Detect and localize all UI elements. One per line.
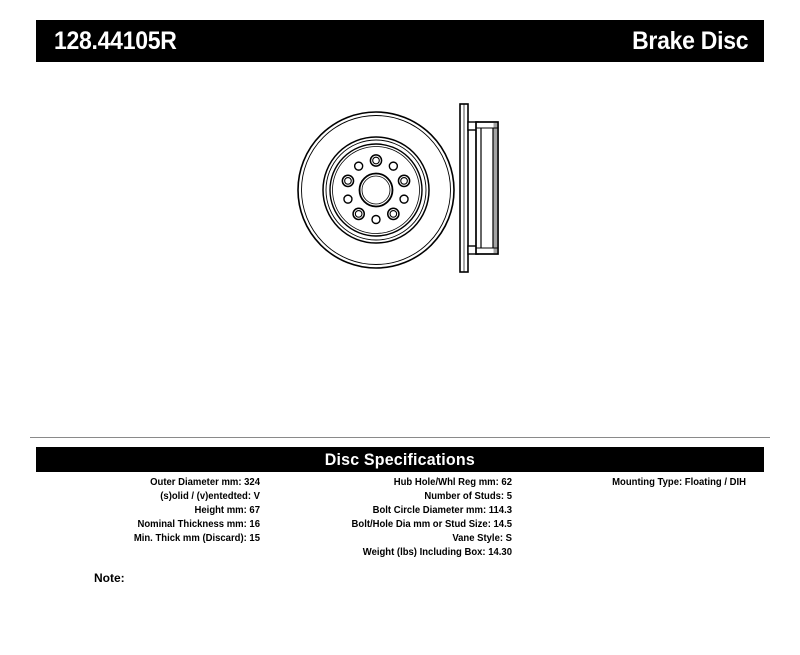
spec-row: Bolt Circle Diameter mm: 114.3 [273, 504, 512, 518]
spec-row: Mounting Type: Floating / DIH [541, 476, 746, 490]
specs-section-title: Disc Specifications [325, 450, 475, 470]
specs-section-header: Disc Specifications [36, 447, 764, 472]
spec-row: Outer Diameter mm: 324 [47, 476, 260, 490]
spec-row: Nominal Thickness mm: 16 [47, 518, 260, 532]
spec-row: Height mm: 67 [47, 504, 260, 518]
specs-table: Outer Diameter mm: 324 (s)olid / (v)ente… [36, 476, 764, 560]
spec-row: Vane Style: S [273, 532, 512, 546]
specs-column-left: Outer Diameter mm: 324 (s)olid / (v)ente… [36, 476, 260, 560]
spec-row: (s)olid / (v)entedted: V [47, 490, 260, 504]
specs-column-right: Mounting Type: Floating / DIH [530, 476, 764, 560]
brake-rotor-face-view [296, 110, 456, 270]
product-type-title: Brake Disc [632, 27, 748, 56]
section-divider [30, 437, 770, 438]
spec-row: Number of Studs: 5 [273, 490, 512, 504]
brake-rotor-side-section-view [452, 98, 508, 278]
spec-row: Weight (lbs) Including Box: 14.30 [273, 546, 512, 560]
note-label: Note: [94, 571, 125, 585]
spec-row: Hub Hole/Whl Reg mm: 62 [273, 476, 512, 490]
part-number: 128.44105R [54, 27, 177, 56]
specs-column-middle: Hub Hole/Whl Reg mm: 62 Number of Studs:… [260, 476, 530, 560]
technical-drawing [0, 90, 800, 290]
header-bar: 128.44105R Brake Disc [36, 20, 764, 62]
spec-row: Min. Thick mm (Discard): 15 [47, 532, 260, 546]
spec-row: Bolt/Hole Dia mm or Stud Size: 14.5 [273, 518, 512, 532]
